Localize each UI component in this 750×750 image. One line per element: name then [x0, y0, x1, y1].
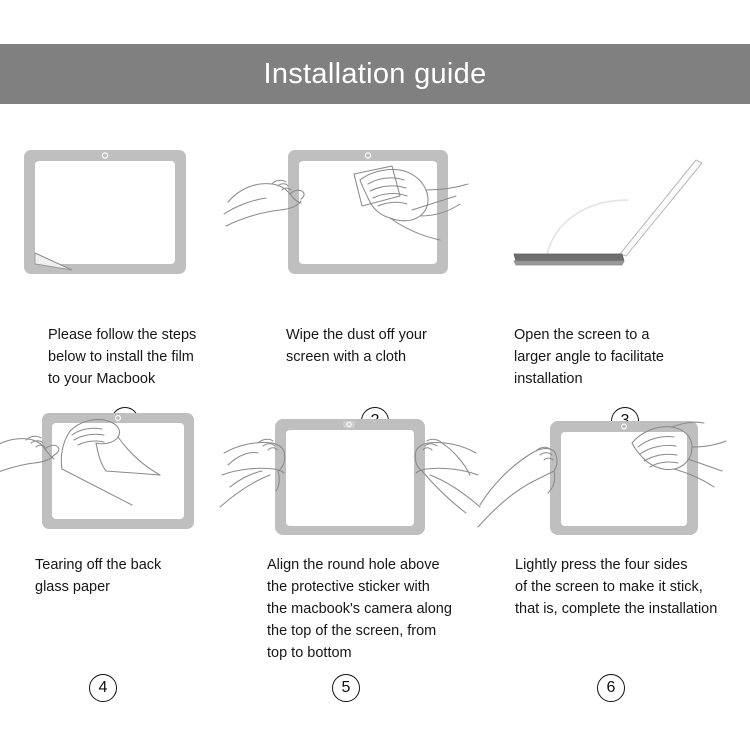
- step-number-badge-6: 6: [597, 674, 625, 702]
- laptop-open-angle-svg: [500, 144, 750, 274]
- step-caption-5: Align the round hole above the protectiv…: [267, 554, 495, 664]
- step-panel-4: Tearing off the back glass paper 4: [0, 409, 250, 539]
- tablet-screen: [561, 432, 687, 526]
- step-number-badge-5: 5: [332, 674, 360, 702]
- step-caption-3: Open the screen to a larger angle to fac…: [514, 324, 729, 390]
- step-number-row-6: 6: [486, 674, 736, 702]
- step-caption-2: Wipe the dust off your screen with a clo…: [286, 324, 496, 368]
- illustration-hands-tearing-back-paper: [0, 409, 250, 539]
- tear-back-paper-svg: [0, 409, 250, 539]
- step-caption-6: Lightly press the four sides of the scre…: [515, 554, 750, 620]
- tablet-peeling-film-svg: [0, 144, 250, 274]
- rotation-arc: [546, 200, 628, 260]
- page-title: Installation guide: [263, 60, 486, 89]
- illustration-laptop-side-view-open-angle: [500, 144, 750, 274]
- wipe-screen-svg: [250, 144, 500, 274]
- step-number-row-4: 4: [0, 674, 228, 702]
- step-panel-6: Lightly press the four sides of the scre…: [500, 409, 750, 539]
- step-panel-2: Wipe the dust off your screen with a clo…: [250, 144, 500, 274]
- step-panel-3: Open the screen to a larger angle to fac…: [500, 144, 750, 274]
- tablet-screen: [286, 430, 414, 526]
- step-panel-5: Align the round hole above the protectiv…: [250, 409, 500, 539]
- step-caption-4: Tearing off the back glass paper: [35, 554, 240, 598]
- step-number-row-5: 5: [221, 674, 471, 702]
- laptop-lid: [620, 160, 702, 256]
- step-panel-1: Please follow the steps below to install…: [0, 144, 250, 274]
- tablet-screen: [35, 161, 175, 264]
- illustration-two-hands-aligning-film: [250, 409, 500, 539]
- press-sides-svg: [500, 409, 750, 539]
- illustration-tablet-with-peeling-film-corner: [0, 144, 250, 274]
- laptop-base-bottom: [514, 261, 624, 265]
- header-band: Installation guide: [0, 44, 750, 104]
- laptop-base-top: [514, 254, 624, 261]
- step-number-badge-4: 4: [89, 674, 117, 702]
- illustration-hand-wiping-screen-with-cloth: [250, 144, 500, 274]
- step-caption-1: Please follow the steps below to install…: [48, 324, 248, 390]
- align-film-svg: [250, 409, 500, 539]
- illustration-hands-pressing-screen-sides: [500, 409, 750, 539]
- steps-grid: Please follow the steps below to install…: [0, 104, 750, 750]
